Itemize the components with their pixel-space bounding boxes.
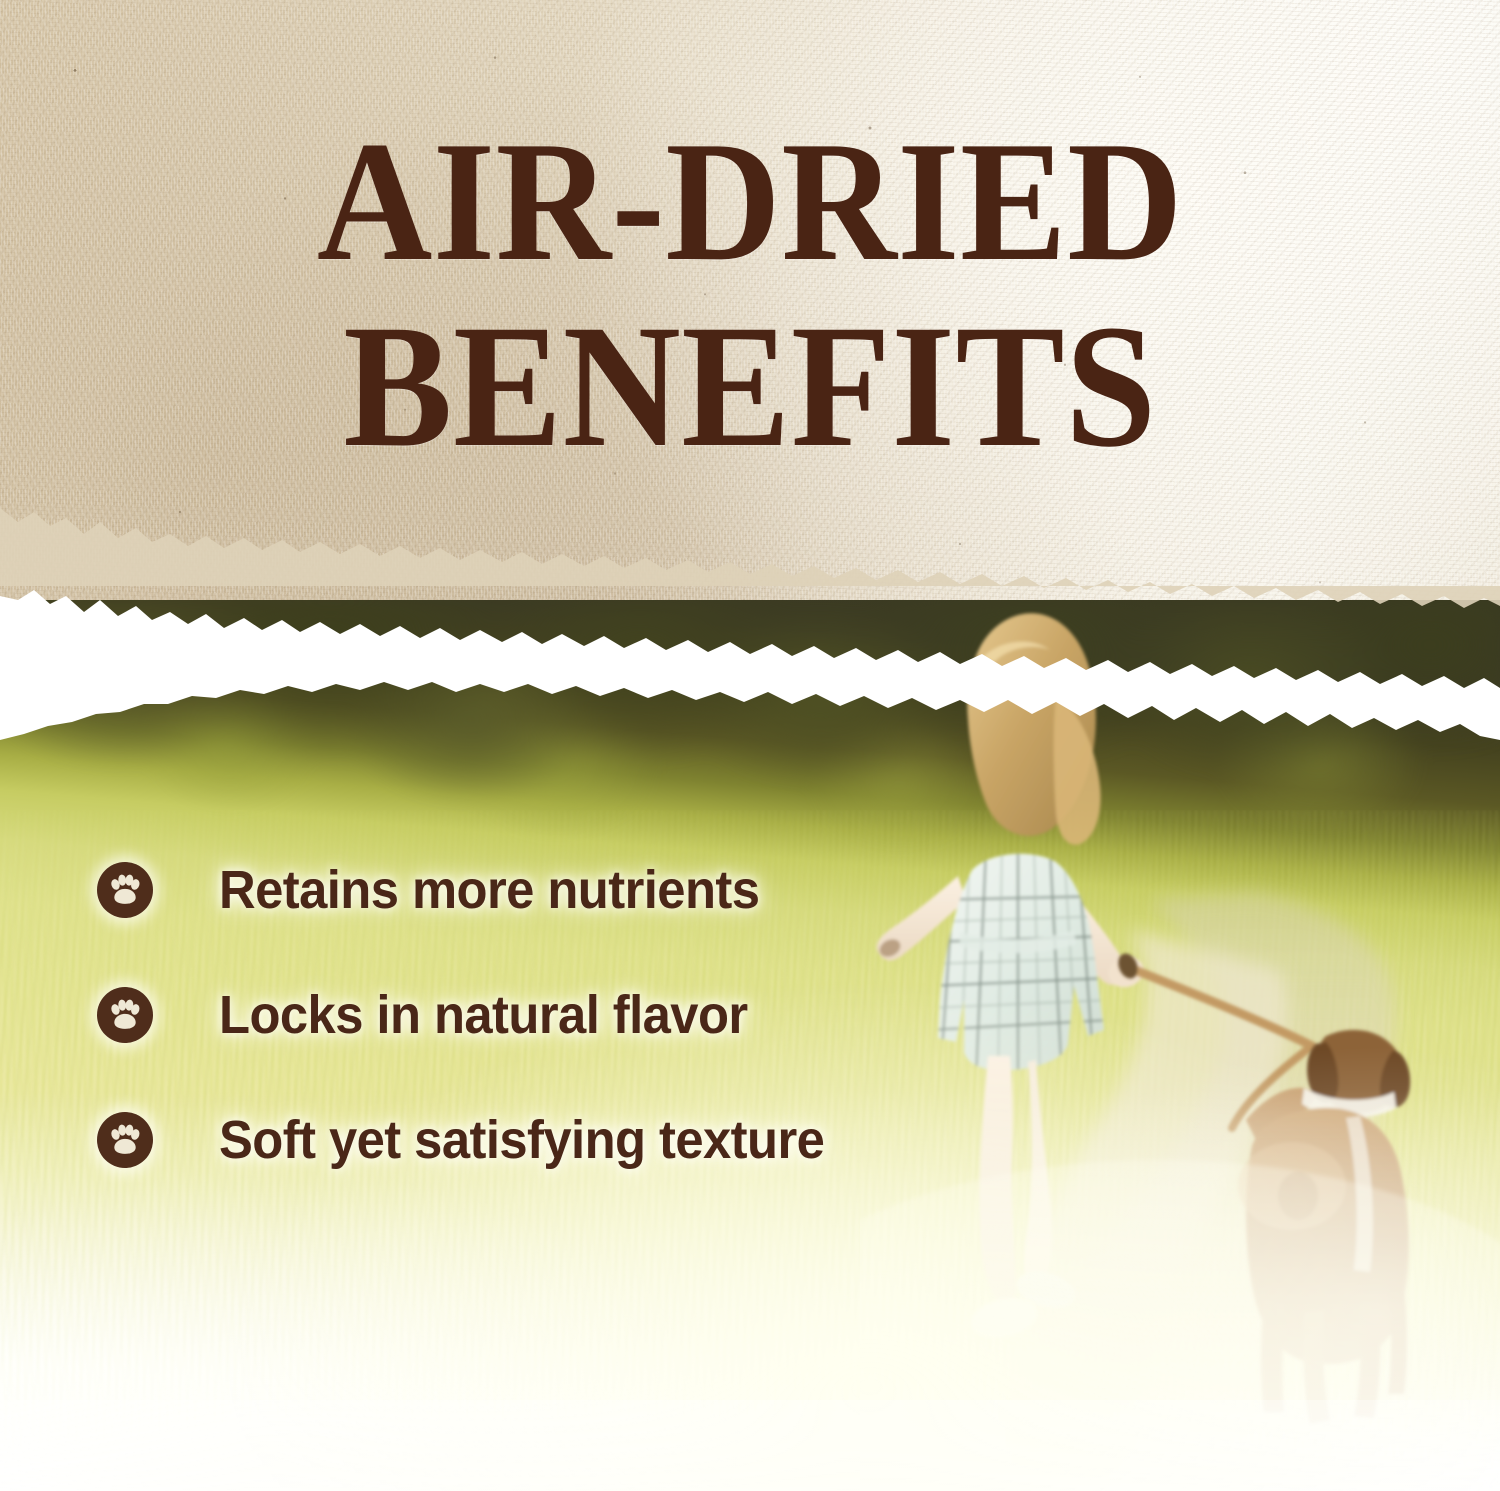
paw-icon xyxy=(97,862,153,918)
paw-icon xyxy=(97,1112,153,1168)
benefits-list: Retains more nutrients Locks in natural … xyxy=(0,0,1500,1491)
list-item: Locks in natural flavor xyxy=(97,979,781,1051)
list-item: Soft yet satisfying texture xyxy=(97,1104,863,1176)
poster-infographic: AIR-DRIED BENEFITS xyxy=(0,0,1500,1491)
list-item-label: Locks in natural flavor xyxy=(219,984,748,1046)
paw-icon xyxy=(97,987,153,1043)
list-item: Retains more nutrients xyxy=(97,854,794,926)
list-item-label: Retains more nutrients xyxy=(219,859,759,921)
list-item-label: Soft yet satisfying texture xyxy=(219,1109,824,1171)
